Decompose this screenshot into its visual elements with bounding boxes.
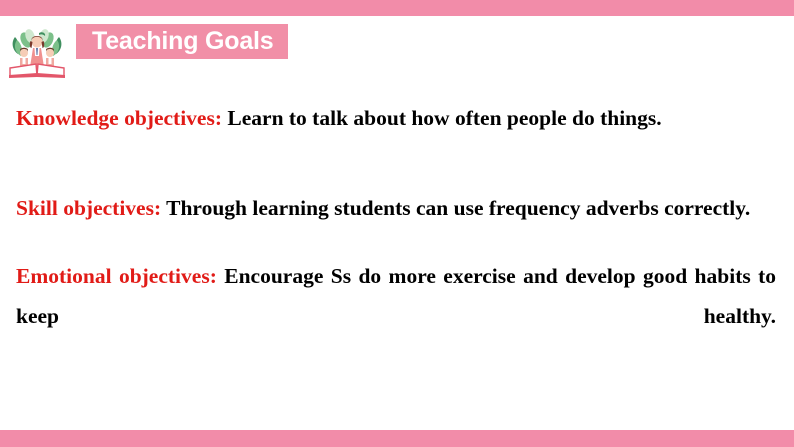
- bottom-pink-bar: [0, 430, 794, 447]
- objective-knowledge: Knowledge objectives: Learn to talk abou…: [16, 98, 776, 138]
- top-pink-bar: [0, 0, 794, 16]
- objective-emotional-label: Emotional objectives:: [16, 264, 217, 288]
- objective-knowledge-text: Learn to talk about how often people do …: [222, 106, 662, 130]
- slide-canvas: Teaching Goals Knowledge objectives: Lea…: [0, 0, 794, 447]
- objective-knowledge-label: Knowledge objectives:: [16, 106, 222, 130]
- objective-skill-text: Through learning students can use freque…: [161, 196, 750, 220]
- teacher-and-students-book-illustration: [6, 20, 68, 82]
- slide-header: Teaching Goals: [0, 16, 794, 76]
- teaching-goals-title-box: Teaching Goals: [76, 24, 288, 59]
- objective-emotional: Emotional objectives: Encourage Ss do mo…: [16, 256, 776, 376]
- objective-skill: Skill objectives: Through learning stude…: [16, 188, 776, 228]
- objectives-list: Knowledge objectives: Learn to talk abou…: [16, 98, 776, 376]
- objective-skill-label: Skill objectives:: [16, 196, 161, 220]
- page-title: Teaching Goals: [92, 29, 274, 54]
